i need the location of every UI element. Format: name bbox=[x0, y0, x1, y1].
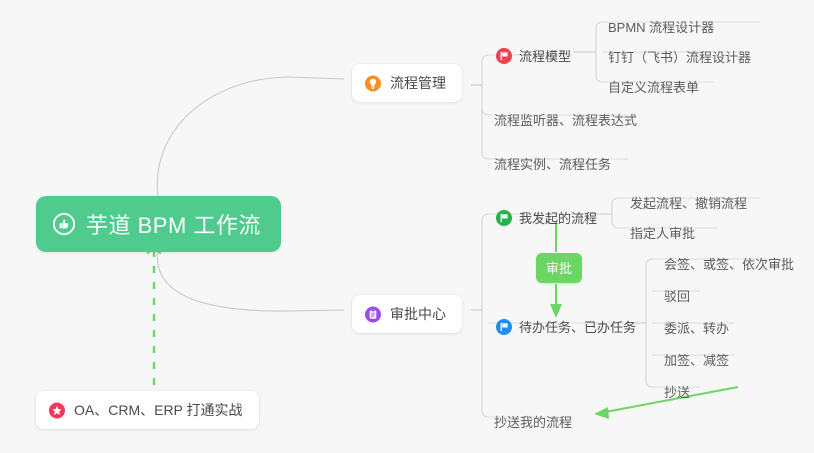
leaf-label: BPMN 流程设计器 bbox=[608, 17, 714, 36]
leaf-reject[interactable]: 驳回 bbox=[656, 280, 698, 312]
leaf-dingtalk-designer[interactable]: 钉钉（飞书）流程设计器 bbox=[600, 41, 759, 73]
link-root-to-approval-center bbox=[157, 248, 344, 311]
node-todo-done-tasks[interactable]: 待办任务、已办任务 bbox=[490, 312, 644, 342]
leaf-cc[interactable]: 抄送 bbox=[656, 376, 698, 408]
leaf-delegate-transfer[interactable]: 委派、转办 bbox=[656, 312, 737, 344]
lightbulb-icon bbox=[365, 75, 381, 91]
branch-label: 审批中心 bbox=[390, 304, 446, 324]
flag-icon bbox=[496, 319, 512, 335]
leaf-label: 流程监听器、流程表达式 bbox=[494, 110, 637, 129]
star-icon bbox=[49, 402, 65, 418]
floating-note-label: OA、CRM、ERP 打通实战 bbox=[74, 400, 243, 420]
leaf-label: 会签、或签、依次审批 bbox=[664, 254, 794, 273]
node-my-started-processes[interactable]: 我发起的流程 bbox=[490, 203, 605, 233]
leaf-cc-to-me[interactable]: 抄送我的流程 bbox=[486, 406, 580, 438]
leaf-label: 加签、减签 bbox=[664, 350, 729, 369]
clipboard-icon bbox=[365, 306, 381, 322]
branch-process-management[interactable]: 流程管理 bbox=[352, 64, 462, 102]
leaf-custom-form[interactable]: 自定义流程表单 bbox=[600, 71, 707, 103]
arrowhead-to-cc bbox=[594, 407, 609, 419]
leaf-label: 委派、转办 bbox=[664, 318, 729, 337]
link-ac-bracket bbox=[482, 214, 488, 417]
root-node[interactable]: 芋道 BPM 工作流 bbox=[36, 196, 281, 252]
leaf-label: 发起流程、撤销流程 bbox=[630, 193, 747, 212]
leaf-label: 驳回 bbox=[664, 286, 690, 305]
link-todo-bracket bbox=[646, 259, 652, 387]
leaf-countersign[interactable]: 会签、或签、依次审批 bbox=[656, 248, 802, 280]
link-started-bracket bbox=[612, 198, 618, 228]
leaf-label: 流程实例、流程任务 bbox=[494, 154, 611, 173]
leaf-assignee-approval[interactable]: 指定人审批 bbox=[622, 217, 703, 249]
floating-note-node[interactable]: OA、CRM、ERP 打通实战 bbox=[36, 391, 259, 429]
root-label: 芋道 BPM 工作流 bbox=[86, 208, 261, 240]
branch-label: 流程管理 bbox=[390, 73, 446, 93]
leaf-label: 自定义流程表单 bbox=[608, 77, 699, 96]
mindmap-canvas: 芋道 BPM 工作流 OA、CRM、ERP 打通实战 流程管理 bbox=[0, 0, 814, 453]
link-root-to-process-management bbox=[157, 77, 344, 196]
leaf-start-cancel-process[interactable]: 发起流程、撤销流程 bbox=[622, 187, 755, 219]
leaf-instance-task[interactable]: 流程实例、流程任务 bbox=[486, 148, 619, 180]
leaf-label: 钉钉（飞书）流程设计器 bbox=[608, 47, 751, 66]
leaf-label: 抄送 bbox=[664, 382, 690, 401]
node-label: 我发起的流程 bbox=[519, 208, 597, 227]
flag-icon bbox=[496, 48, 512, 64]
approval-flow-pill: 审批 bbox=[536, 253, 582, 283]
leaf-label: 抄送我的流程 bbox=[494, 412, 572, 431]
leaf-listener-expression[interactable]: 流程监听器、流程表达式 bbox=[486, 104, 645, 136]
node-label: 待办任务、已办任务 bbox=[519, 317, 636, 336]
flag-icon bbox=[496, 210, 512, 226]
leaf-add-remove-sign[interactable]: 加签、减签 bbox=[656, 344, 737, 376]
node-label: 流程模型 bbox=[519, 46, 571, 65]
node-process-model[interactable]: 流程模型 bbox=[490, 41, 579, 71]
branch-approval-center[interactable]: 审批中心 bbox=[352, 295, 462, 333]
thumbs-up-icon bbox=[53, 213, 75, 235]
leaf-label: 指定人审批 bbox=[630, 223, 695, 242]
leaf-bpmn-designer[interactable]: BPMN 流程设计器 bbox=[600, 11, 722, 43]
